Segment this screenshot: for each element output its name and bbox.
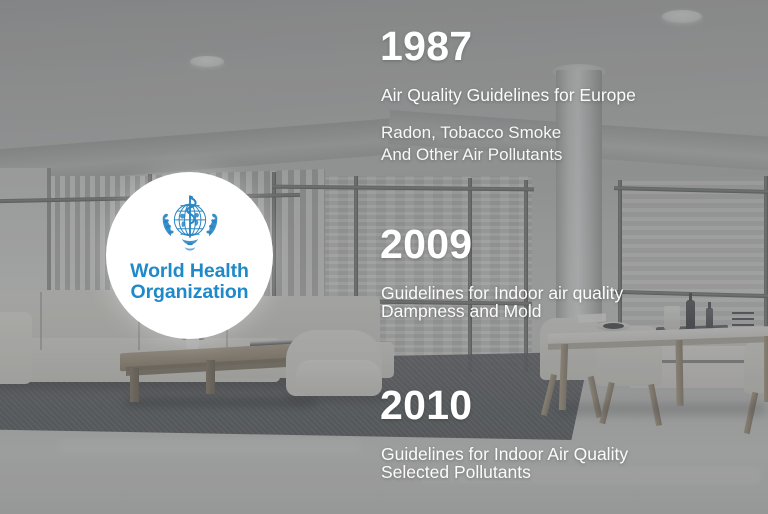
timeline-title-2010: Guidelines for Indoor Air Quality Select… [381, 446, 628, 482]
timeline-entry-2010: 2010 Guidelines for Indoor Air Quality S… [381, 385, 628, 482]
guidelines-timeline: 1987 Air Quality Guidelines for Europe R… [0, 0, 768, 514]
timeline-entry-2009: 2009 Guidelines for Indoor air quality D… [381, 224, 623, 321]
timeline-entry-1987: 1987 Air Quality Guidelines for Europe R… [381, 26, 636, 167]
timeline-year-1987: 1987 [380, 26, 636, 67]
timeline-year-2009: 2009 [380, 224, 623, 265]
promo-banner: World Health Organization 1987 Air Quali… [0, 0, 768, 514]
timeline-year-2010: 2010 [380, 385, 628, 426]
timeline-title-2009: Guidelines for Indoor air quality Dampne… [381, 285, 623, 321]
timeline-subtitle-1987: Radon, Tobacco Smoke And Other Air Pollu… [381, 122, 636, 167]
timeline-title-1987: Air Quality Guidelines for Europe [381, 87, 636, 105]
